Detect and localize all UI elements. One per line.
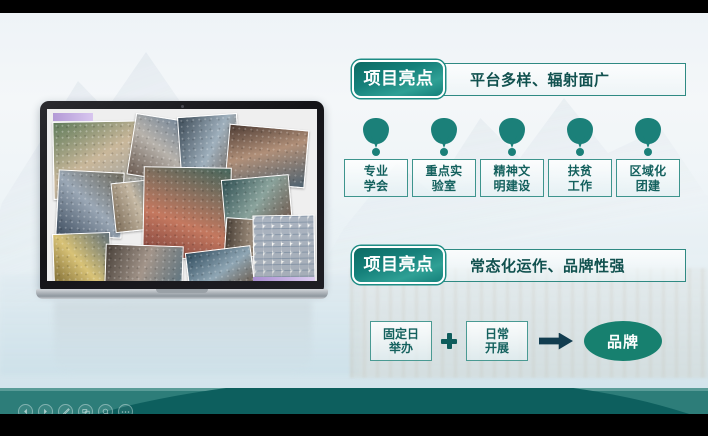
map-pin-icon [361, 118, 391, 154]
pin-label-4-line2: 工作 [568, 179, 593, 193]
pin-label-5-line1: 区域化 [630, 164, 667, 178]
laptop-reflection [54, 301, 312, 375]
photo-collage [47, 109, 317, 281]
pin-item-5[interactable]: 区域化 团建 [616, 118, 680, 197]
pin-item-2[interactable]: 重点实 验室 [412, 118, 476, 197]
highlight-badge-2: 项目亮点 [352, 246, 445, 284]
collage-header-strip [53, 113, 93, 121]
pin-label-box-3: 精神文 明建设 [480, 159, 544, 197]
all-slides-icon[interactable] [78, 404, 93, 414]
laptop-notch [156, 289, 208, 293]
next-slide-icon[interactable] [38, 404, 53, 414]
pin-label-box-1: 专业 学会 [344, 159, 408, 197]
pin-item-3[interactable]: 精神文 明建设 [480, 118, 544, 197]
highlight-text-1: 平台多样、辐射面广 [470, 69, 610, 90]
previous-slide-icon[interactable] [18, 404, 33, 414]
pin-row: 专业 学会 重点实 验室 精神文 明建设 [340, 118, 700, 218]
pin-label-3-line1: 精神文 [494, 164, 531, 178]
pin-label-2-line2: 验室 [432, 179, 457, 193]
highlight-body-2: 常态化运作、品牌性强 [441, 249, 686, 282]
flow-box-2-line2: 开展 [485, 341, 509, 355]
letterbox-bottom [0, 414, 708, 436]
arrow-right-icon [539, 333, 573, 350]
flow-diagram: 固定日 举办 日常 开展 品牌 [370, 318, 662, 364]
highlight-text-2: 常态化运作、品牌性强 [470, 255, 625, 276]
collage-footer-strip [253, 277, 315, 281]
laptop-lid [40, 101, 324, 291]
pin-label-1-line1: 专业 [364, 164, 389, 178]
flow-box-daily[interactable]: 日常 开展 [466, 321, 528, 361]
map-pin-icon [497, 118, 527, 154]
flow-result-label: 品牌 [607, 331, 639, 352]
pin-label-box-4: 扶贫 工作 [548, 159, 612, 197]
map-pin-icon [633, 118, 663, 154]
letterbox-top [0, 0, 708, 13]
highlight-badge-2-label: 项目亮点 [364, 257, 434, 274]
pin-label-5-line2: 团建 [636, 179, 661, 193]
highlight-body-1: 平台多样、辐射面广 [441, 63, 686, 96]
pin-item-1[interactable]: 专业 学会 [344, 118, 408, 197]
highlight-banner-2: 项目亮点 常态化运作、品牌性强 [352, 246, 686, 284]
flow-box-2-line1: 日常 [485, 327, 509, 341]
flow-box-fixed-day[interactable]: 固定日 举办 [370, 321, 432, 361]
laptop-camera-icon [181, 105, 184, 108]
flow-result-brand[interactable]: 品牌 [584, 321, 662, 361]
pin-label-2-line1: 重点实 [426, 164, 463, 178]
laptop-screen [47, 109, 317, 281]
highlight-banner-1: 项目亮点 平台多样、辐射面广 [352, 60, 686, 98]
presentation-slide: 项目亮点 平台多样、辐射面广 专业 学会 [0, 0, 708, 436]
presenter-toolbar [18, 404, 133, 414]
collage-photo [52, 232, 112, 281]
more-options-icon[interactable] [118, 404, 133, 414]
highlight-badge-1-label: 项目亮点 [364, 71, 434, 88]
pin-item-4[interactable]: 扶贫 工作 [548, 118, 612, 197]
pin-label-box-2: 重点实 验室 [412, 159, 476, 197]
pin-label-1-line2: 学会 [364, 179, 389, 193]
plus-icon [441, 333, 457, 349]
map-pin-icon [429, 118, 459, 154]
pin-label-4-line1: 扶贫 [568, 164, 593, 178]
laptop-illustration [36, 101, 328, 306]
zoom-tool-icon[interactable] [98, 404, 113, 414]
flow-box-1-line2: 举办 [389, 341, 413, 355]
collage-photo-note [252, 214, 315, 281]
pin-label-3-line2: 明建设 [494, 179, 531, 193]
highlight-badge-1: 项目亮点 [352, 60, 445, 98]
pin-label-box-5: 区域化 团建 [616, 159, 680, 197]
map-pin-icon [565, 118, 595, 154]
slide-canvas: 项目亮点 平台多样、辐射面广 专业 学会 [0, 13, 708, 414]
pen-tool-icon[interactable] [58, 404, 73, 414]
laptop-base [36, 289, 328, 299]
flow-box-1-line1: 固定日 [383, 327, 419, 341]
collage-photo [104, 244, 183, 281]
